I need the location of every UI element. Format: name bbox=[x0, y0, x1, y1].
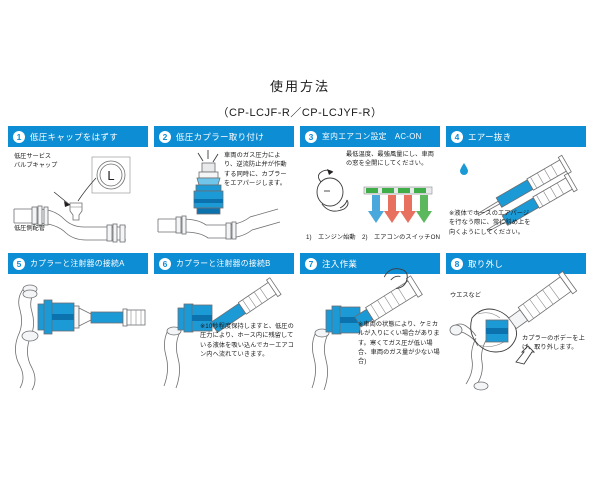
step-illustration-6: ※10秒程度保持しますと、低圧の圧力により、ホース内に残留している液体を吸い込ん… bbox=[154, 274, 294, 392]
step-number-3: 3 bbox=[305, 131, 317, 143]
step-number-6: 6 bbox=[159, 258, 171, 270]
step-panel-6: 6 カプラーと注射器の接続B bbox=[154, 253, 294, 392]
step-number-2: 2 bbox=[159, 131, 171, 143]
label-valve-cap: 低圧サービス バルブキャップ bbox=[14, 153, 57, 171]
page-subtitle: （CP-LCJF-R／CP-LCJYF-R） bbox=[0, 104, 600, 120]
step-number-8: 8 bbox=[451, 258, 463, 270]
step-label-7: 注入作業 bbox=[322, 258, 357, 270]
step-label-5: カプラーと注射器の接続A bbox=[30, 258, 125, 269]
step-panel-2: 2 低圧カプラー取り付け bbox=[154, 126, 294, 247]
step-label-4: エアー抜き bbox=[468, 131, 512, 143]
note-step-3: 最低温度、最強風量にし、車両の窓を全開にしてください。 bbox=[346, 150, 440, 169]
note-step-2: 車両のガス圧力により、逆流防止弁が作動する同時に、カプラーをエアパージします。 bbox=[224, 151, 290, 188]
note-step-8: カプラーのボデーを上げ、取り外します。 bbox=[522, 334, 586, 353]
step-header-2: 2 低圧カプラー取り付け bbox=[154, 126, 294, 147]
steps-grid: 1 低圧キャップをはずす L bbox=[8, 126, 592, 392]
svg-text:L: L bbox=[107, 168, 114, 183]
step-label-2: 低圧カプラー取り付け bbox=[176, 131, 264, 143]
step-illustration-3: 最低温度、最強風量にし、車両の窓を全開にしてください。 1) エンジン始動 2)… bbox=[300, 147, 440, 247]
step-panel-1: 1 低圧キャップをはずす L bbox=[8, 126, 148, 247]
label-low-pressure-pipe: 低圧側配管 bbox=[14, 225, 45, 234]
step-illustration-1: L bbox=[8, 147, 148, 247]
note-step-6: ※10秒程度保持しますと、低圧の圧力により、ホース内に残留している液体を吸い込ん… bbox=[200, 322, 294, 359]
step-header-7: 7 注入作業 bbox=[300, 253, 440, 274]
step-illustration-4: ※液体でホースのエアパージを行なう際に、常に斜め上を向くようにしてください。 bbox=[446, 147, 586, 247]
step-illustration-7: ※車両の状態により、ケミカルが入りにくい場合があります。寒くてガス圧が低い場合、… bbox=[300, 274, 440, 392]
page-title: 使用方法 bbox=[0, 76, 600, 95]
step-label-3: 室内エアコン設定 AC-ON bbox=[322, 131, 422, 142]
step-illustration-5 bbox=[8, 274, 148, 392]
footnote-step-3: 1) エンジン始動 2) エアコンのスイッチON bbox=[306, 233, 446, 242]
step-header-1: 1 低圧キャップをはずす bbox=[8, 126, 148, 147]
step-number-4: 4 bbox=[451, 131, 463, 143]
step-panel-3: 3 室内エアコン設定 AC-ON bbox=[300, 126, 440, 247]
step-panel-4: 4 エアー抜き bbox=[446, 126, 586, 247]
step-panel-5: 5 カプラーと注射器の接続A bbox=[8, 253, 148, 392]
step-label-8: 取り外し bbox=[468, 258, 503, 270]
step-label-6: カプラーと注射器の接続B bbox=[176, 258, 271, 269]
coupler-syringe-connect-a-diagram bbox=[8, 274, 148, 392]
label-rag: ウエスなど bbox=[450, 292, 481, 301]
steps-row-top: 1 低圧キャップをはずす L bbox=[8, 126, 592, 247]
step-header-5: 5 カプラーと注射器の接続A bbox=[8, 253, 148, 274]
note-step-7: ※車両の状態により、ケミカルが入りにくい場合があります。寒くてガス圧が低い場合、… bbox=[358, 320, 440, 366]
step-number-1: 1 bbox=[13, 131, 25, 143]
step-header-3: 3 室内エアコン設定 AC-ON bbox=[300, 126, 440, 147]
step-header-8: 8 取り外し bbox=[446, 253, 586, 274]
note-step-4: ※液体でホースのエアパージを行なう際に、常に斜め上を向くようにしてください。 bbox=[449, 209, 531, 237]
step-number-5: 5 bbox=[13, 258, 25, 270]
step-header-4: 4 エアー抜き bbox=[446, 126, 586, 147]
step-panel-8: 8 取り外し bbox=[446, 253, 586, 392]
steps-row-bottom: 5 カプラーと注射器の接続A bbox=[8, 253, 592, 392]
step-number-7: 7 bbox=[305, 258, 317, 270]
page-title-block: 使用方法 （CP-LCJF-R／CP-LCJYF-R） bbox=[0, 76, 600, 120]
step-label-1: 低圧キャップをはずす bbox=[30, 131, 118, 143]
instruction-sheet: 使用方法 （CP-LCJF-R／CP-LCJYF-R） 1 低圧キャップをはずす bbox=[0, 0, 600, 500]
step-illustration-2: 車両のガス圧力により、逆流防止弁が作動する同時に、カプラーをエアパージします。 bbox=[154, 147, 294, 247]
step-header-6: 6 カプラーと注射器の接続B bbox=[154, 253, 294, 274]
step-panel-7: 7 注入作業 bbox=[300, 253, 440, 392]
step-illustration-8: ウエスなど カプラーのボデーを上げ、取り外します。 bbox=[446, 274, 586, 392]
